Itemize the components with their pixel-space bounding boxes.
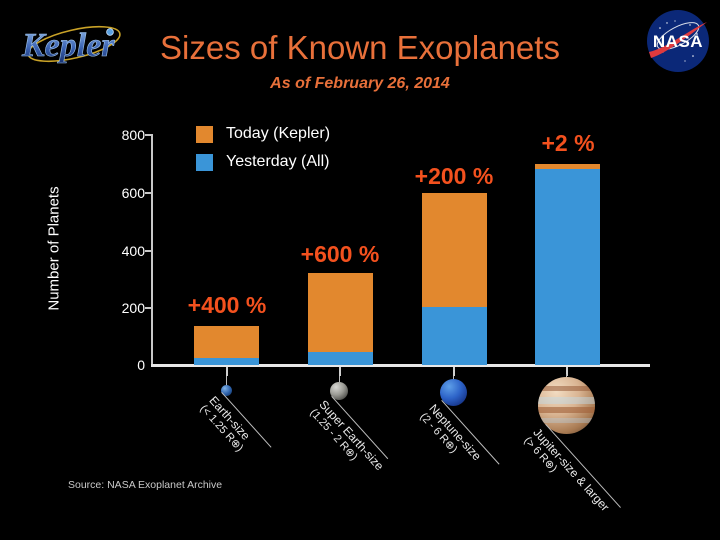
y-tick-800 — [145, 134, 153, 136]
y-tick-600 — [145, 192, 153, 194]
y-tick-label-0: 0 — [99, 358, 145, 372]
y-tick-label-200: 200 — [99, 301, 145, 315]
source-note: Source: NASA Exoplanet Archive — [68, 479, 222, 491]
bar-chart: 800 600 400 200 0 Number of Planets +400… — [0, 0, 720, 540]
jupiter-band-4 — [538, 418, 595, 423]
x-tick-0 — [226, 367, 228, 376]
y-tick-label-400: 400 — [99, 244, 145, 258]
y-tick-label-200-wrap: 200 — [85, 301, 145, 315]
pct-label-neptune-size: +200 % — [399, 163, 509, 190]
legend-label-yesterday: Yesterday (All) — [226, 154, 329, 170]
y-tick-label-600: 600 — [99, 186, 145, 200]
y-tick-400 — [145, 250, 153, 252]
pct-label-earth-size: +400 % — [172, 292, 282, 319]
y-tick-label-400-wrap: 400 — [85, 244, 145, 258]
bar-segment-yesterday-earth-size — [194, 358, 259, 365]
jupiter-band-3 — [538, 407, 595, 413]
bar-segment-yesterday-neptune-size — [422, 307, 487, 365]
bar-jupiter-size[interactable] — [535, 164, 600, 365]
x-tick-2 — [453, 367, 455, 376]
jupiter-band-1 — [538, 386, 595, 391]
y-axis-title: Number of Planets — [46, 159, 63, 339]
legend-swatch-today — [196, 126, 213, 143]
chart-legend: Today (Kepler) Yesterday (All) — [196, 120, 330, 176]
legend-item-today[interactable]: Today (Kepler) — [196, 120, 330, 148]
y-tick-label-0-wrap: 0 — [85, 358, 145, 372]
legend-label-today: Today (Kepler) — [226, 126, 330, 142]
y-tick-label-600-wrap: 600 — [85, 186, 145, 200]
x-tick-1 — [339, 367, 341, 376]
y-tick-200 — [145, 307, 153, 309]
y-tick-label-800: 800 — [99, 128, 145, 142]
slide-canvas: Kepler NASA Sizes of Known Exoplanets As… — [0, 0, 720, 540]
legend-item-yesterday[interactable]: Yesterday (All) — [196, 148, 330, 176]
jupiter-band-2 — [538, 397, 595, 404]
pct-label-super-earth-size: +600 % — [285, 241, 395, 268]
bar-earth-size[interactable] — [194, 326, 259, 365]
bar-super-earth-size[interactable] — [308, 273, 373, 365]
y-tick-label-800-wrap: 800 — [85, 128, 145, 142]
legend-swatch-yesterday — [196, 154, 213, 171]
bar-neptune-size[interactable] — [422, 193, 487, 365]
pct-label-jupiter-size: +2 % — [522, 130, 614, 157]
bar-segment-yesterday-jupiter-size — [535, 169, 600, 365]
bar-segment-yesterday-super-earth-size — [308, 352, 373, 365]
